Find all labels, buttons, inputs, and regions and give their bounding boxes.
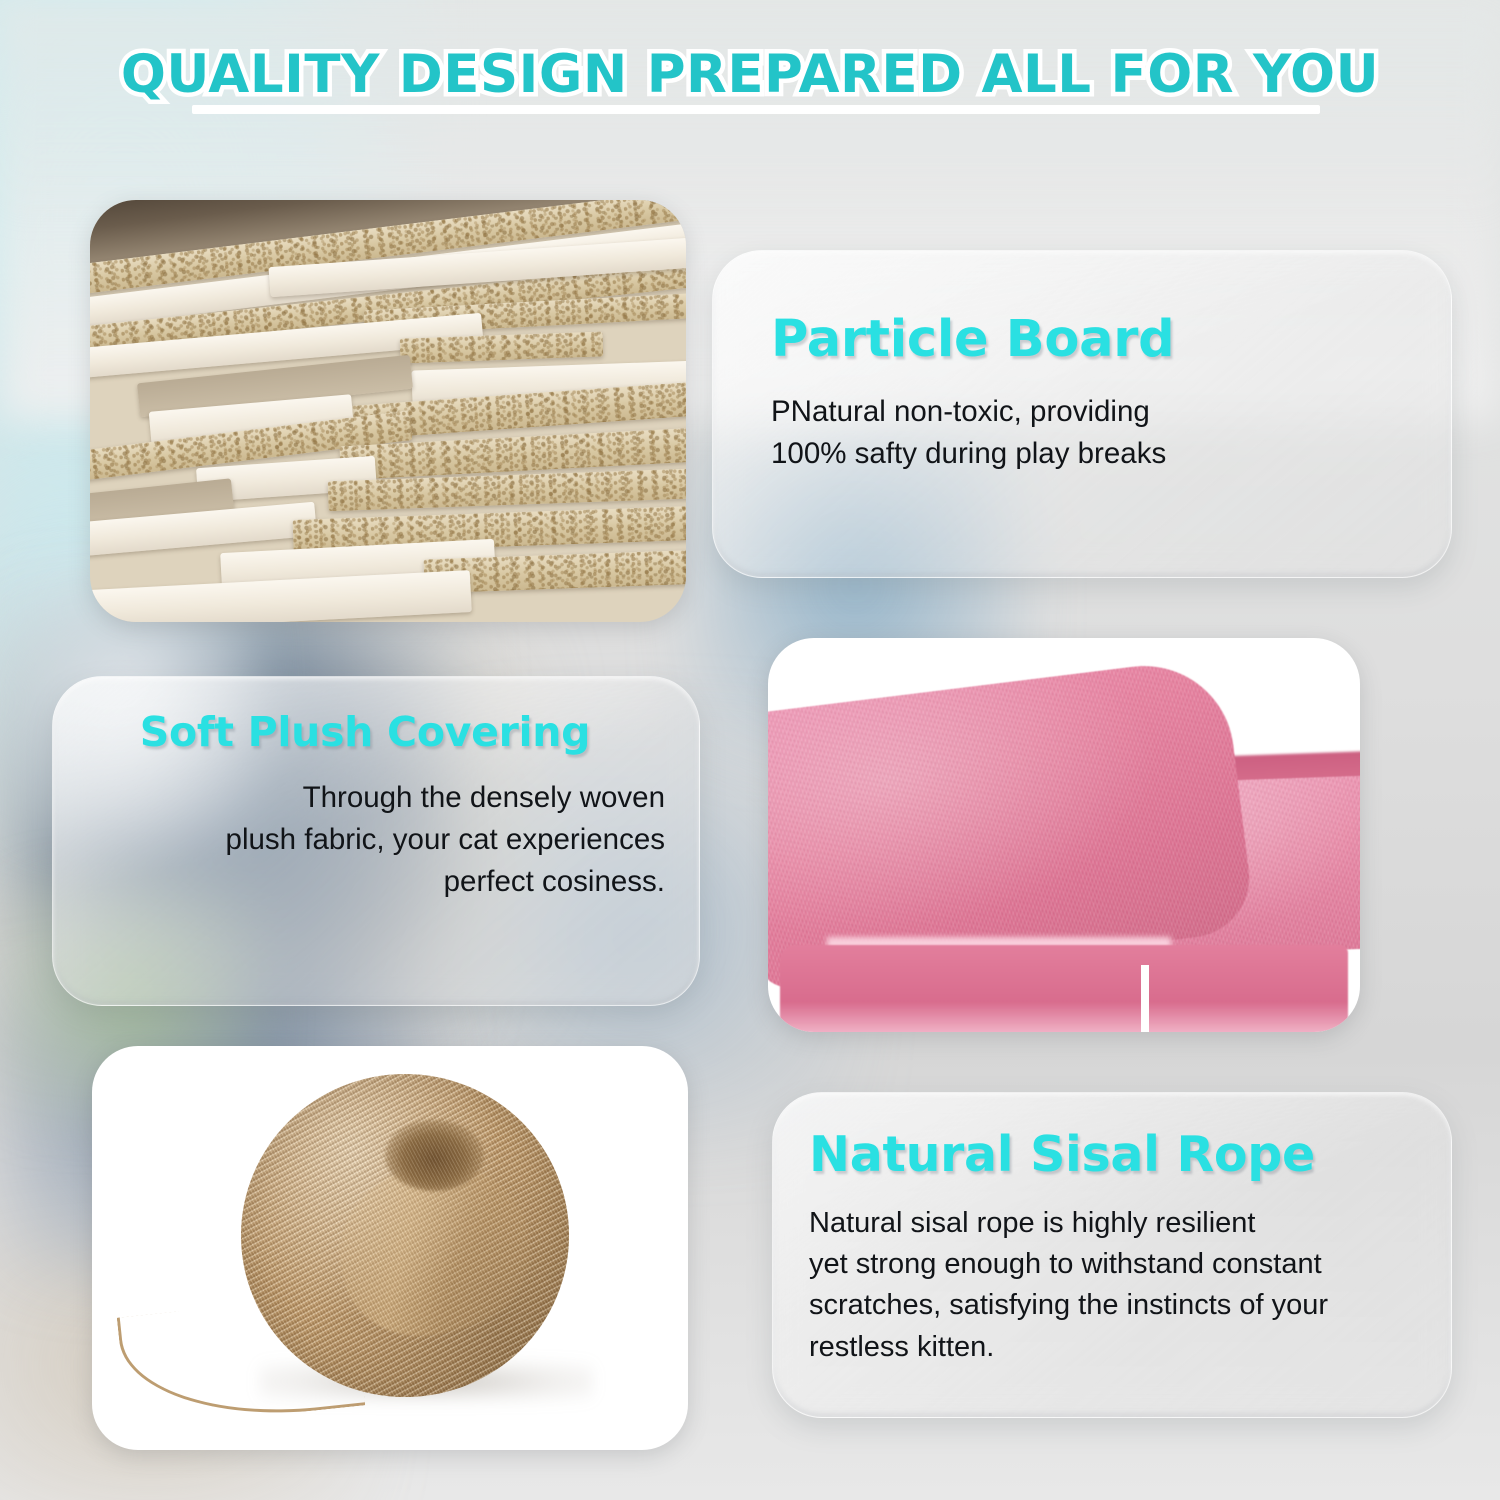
infographic-canvas: QUALITY DESIGN PREPARED ALL FOR YOU Part… <box>0 0 1500 1500</box>
feature-body-line: restless kitten. <box>809 1327 1427 1368</box>
header: QUALITY DESIGN PREPARED ALL FOR YOU <box>0 44 1500 105</box>
feature-body-line: yet strong enough to withstand constant <box>809 1244 1427 1285</box>
feature-card-soft-plush-covering: Soft Plush Covering Through the densely … <box>52 676 700 1006</box>
feature-title-soft-plush-covering: Soft Plush Covering <box>53 711 677 754</box>
feature-title-particle-board: Particle Board <box>771 313 1174 367</box>
feature-body-line: perfect cosiness. <box>83 861 665 903</box>
feature-body-line: scratches, satisfying the instincts of y… <box>809 1285 1427 1326</box>
feature-body-natural-sisal-rope: Natural sisal rope is highly resilient y… <box>809 1203 1427 1368</box>
plush-gap <box>1141 965 1149 1032</box>
feature-body-line: Natural sisal rope is highly resilient <box>809 1203 1427 1244</box>
image-particle-board <box>90 200 686 622</box>
feature-body-line: Through the densely woven <box>83 777 665 819</box>
feature-body-soft-plush-covering: Through the densely woven plush fabric, … <box>83 777 665 903</box>
rope-loose-strand <box>117 1292 366 1429</box>
image-sisal-rope-ball <box>92 1046 688 1450</box>
feature-body-line: 100% safty during play breaks <box>771 433 1411 475</box>
image-pink-plush-fabric <box>768 638 1360 1032</box>
rope-center-hole <box>385 1120 483 1191</box>
feature-body-line: plush fabric, your cat experiences <box>83 819 665 861</box>
feature-card-particle-board: Particle Board PNatural non-toxic, provi… <box>712 250 1452 578</box>
feature-body-line: PNatural non-toxic, providing <box>771 391 1411 433</box>
feature-title-natural-sisal-rope: Natural Sisal Rope <box>809 1129 1315 1180</box>
feature-card-natural-sisal-rope: Natural Sisal Rope Natural sisal rope is… <box>772 1092 1452 1418</box>
plush-base <box>780 945 1348 1032</box>
title-underline <box>192 105 1320 114</box>
feature-body-particle-board: PNatural non-toxic, providing 100% safty… <box>771 391 1411 475</box>
page-title: QUALITY DESIGN PREPARED ALL FOR YOU <box>121 44 1379 105</box>
